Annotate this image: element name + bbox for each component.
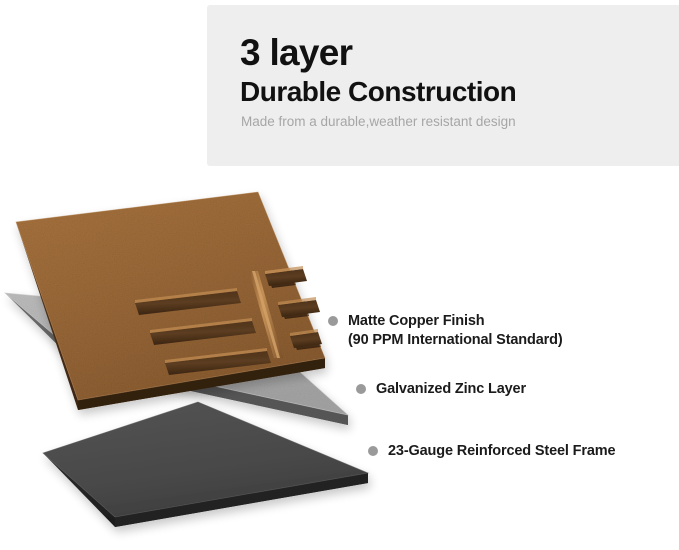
page-tagline: Made from a durable,weather resistant de… [241, 113, 670, 131]
bullet-dot-icon [368, 446, 378, 456]
callout-galvanized-zinc-layer: Galvanized Zinc Layer [356, 380, 526, 399]
product-feature-graphic: 3 layer Durable Construction Made from a… [0, 0, 679, 550]
bullet-dot-icon [328, 316, 338, 326]
callout-label-zinc: Galvanized Zinc Layer [376, 380, 526, 399]
callout-matte-copper-finish: Matte Copper Finish (90 PPM Internationa… [328, 312, 563, 351]
header-panel: 3 layer Durable Construction Made from a… [207, 5, 679, 166]
page-title: 3 layer [240, 33, 670, 73]
callout-label-steel: 23-Gauge Reinforced Steel Frame [388, 442, 615, 461]
header-text-block: 3 layer Durable Construction Made from a… [240, 33, 670, 131]
callout-reinforced-steel-frame: 23-Gauge Reinforced Steel Frame [368, 442, 615, 461]
page-subtitle: Durable Construction [240, 75, 670, 108]
exploded-layer-diagram [0, 170, 400, 550]
bullet-dot-icon [356, 384, 366, 394]
layer-steel-frame [43, 402, 368, 527]
layer-stack-svg [0, 170, 400, 550]
callout-label-copper: Matte Copper Finish (90 PPM Internationa… [348, 312, 563, 351]
